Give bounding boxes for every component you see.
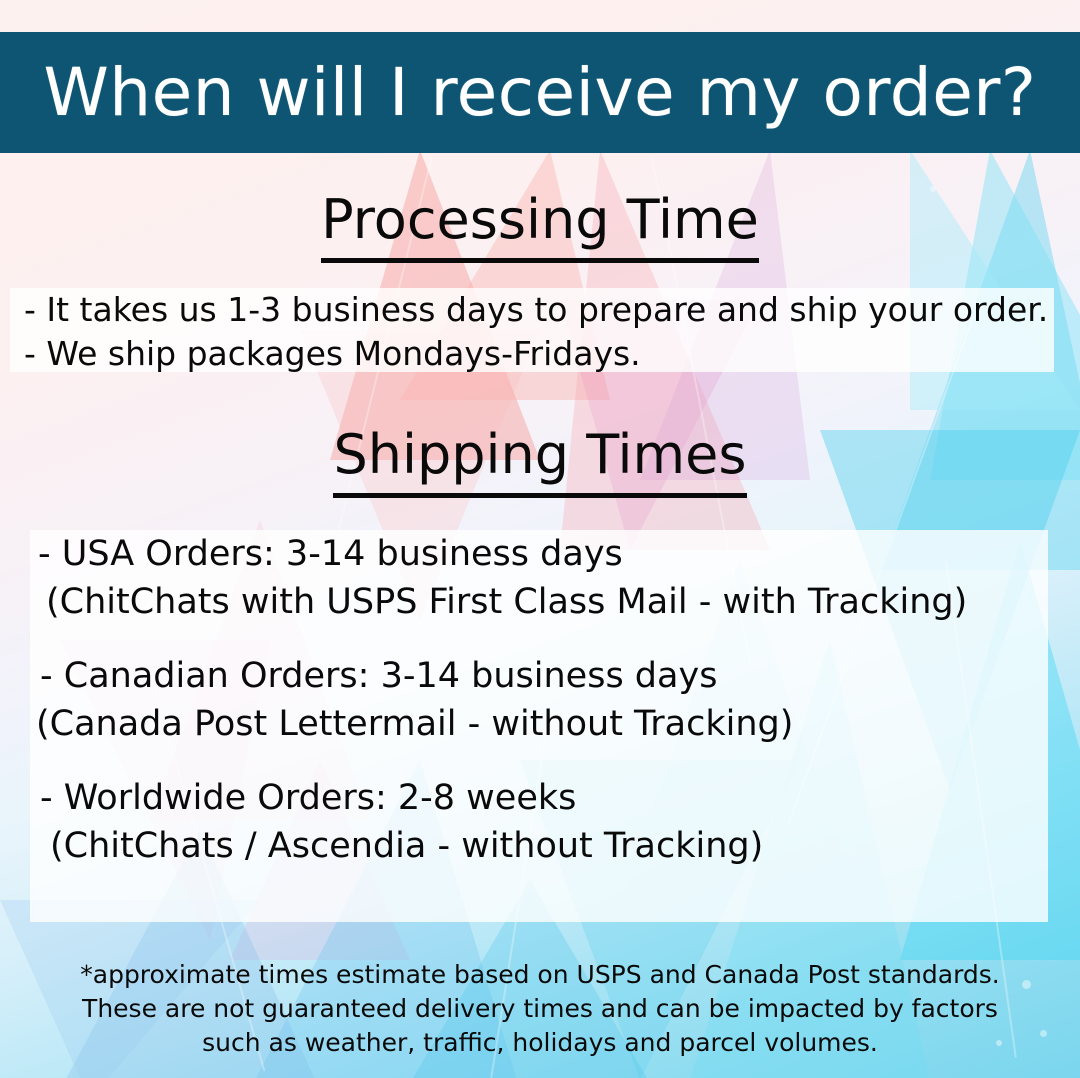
- shipping-times-list: - USA Orders: 3-14 business days (ChitCh…: [36, 530, 1046, 870]
- shipping-canada-duration: - Canadian Orders: 3-14 business days: [36, 652, 1046, 700]
- shipping-times-heading: Shipping Times: [0, 428, 1080, 482]
- disclaimer-line-3: such as weather, traffic, holidays and p…: [0, 1026, 1080, 1060]
- disclaimer-line-2: These are not guaranteed delivery times …: [0, 992, 1080, 1026]
- shipping-group-worldwide: - Worldwide Orders: 2-8 weeks (ChitChats…: [36, 774, 1046, 870]
- shipping-info-poster: When will I receive my order? Processing…: [0, 0, 1080, 1078]
- page-title: When will I receive my order?: [44, 60, 1037, 126]
- shipping-canada-carrier: (Canada Post Lettermail - without Tracki…: [36, 700, 1046, 748]
- shipping-group-canada: - Canadian Orders: 3-14 business days (C…: [36, 652, 1046, 748]
- bokeh-dot-4: [930, 186, 936, 192]
- processing-line-2: - We ship packages Mondays-Fridays.: [24, 332, 1054, 376]
- shipping-worldwide-carrier: (ChitChats / Ascendia - without Tracking…: [36, 822, 1046, 870]
- disclaimer-note: *approximate times estimate based on USP…: [0, 958, 1080, 1060]
- shipping-times-heading-text: Shipping Times: [333, 423, 746, 498]
- processing-line-1: - It takes us 1-3 business days to prepa…: [24, 288, 1054, 332]
- shipping-group-usa: - USA Orders: 3-14 business days (ChitCh…: [36, 530, 1046, 626]
- shipping-usa-carrier: (ChitChats with USPS First Class Mail - …: [36, 578, 1046, 626]
- header-banner: When will I receive my order?: [0, 32, 1080, 153]
- disclaimer-line-1: *approximate times estimate based on USP…: [0, 958, 1080, 992]
- processing-time-heading: Processing Time: [0, 193, 1080, 247]
- shipping-worldwide-duration: - Worldwide Orders: 2-8 weeks: [36, 774, 1046, 822]
- shipping-usa-duration: - USA Orders: 3-14 business days: [36, 530, 1046, 578]
- processing-time-list: - It takes us 1-3 business days to prepa…: [24, 288, 1054, 376]
- processing-time-heading-text: Processing Time: [321, 188, 759, 263]
